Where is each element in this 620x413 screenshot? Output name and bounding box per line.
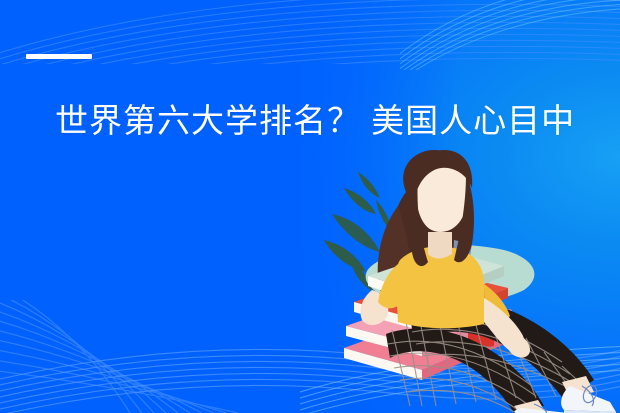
- banner-canvas: 世界第六大学排名？ 美国人心目中: [0, 0, 620, 413]
- accent-rule: [26, 54, 92, 59]
- page-title: 世界第六大学排名？ 美国人心目中: [55, 99, 575, 143]
- background-left-tint: [0, 0, 620, 413]
